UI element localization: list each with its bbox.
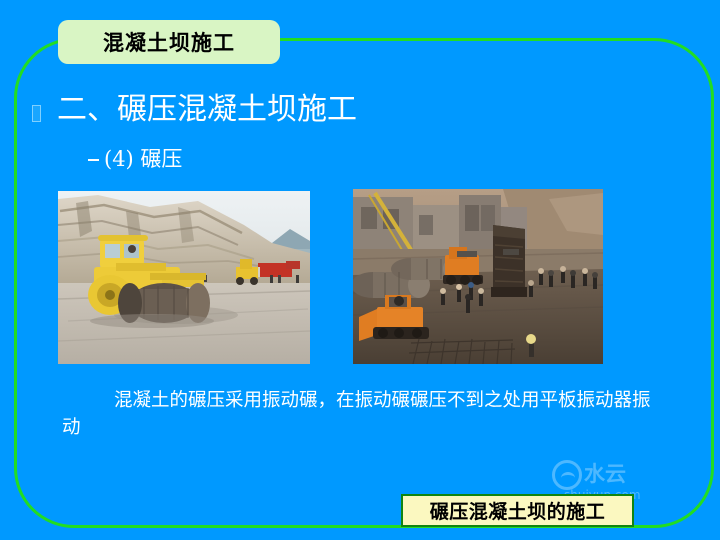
dam-construction-illustration (353, 189, 603, 364)
header-badge-label: 混凝土坝施工 (103, 27, 235, 57)
slide-canvas: 混凝土坝施工 二、碾压混凝土坝施工 (4) 碾压 (0, 0, 720, 540)
slide-title-row: 二、碾压混凝土坝施工 (32, 94, 357, 126)
vibratory-roller-illustration (58, 191, 310, 364)
footer-caption-box: 碾压混凝土坝的施工 (401, 494, 634, 527)
photo-group (0, 0, 720, 540)
footer-caption-label: 碾压混凝土坝的施工 (430, 497, 606, 524)
subtitle-label: (4) 碾压 (104, 148, 182, 171)
slide-subtitle-row: (4) 碾压 (88, 148, 182, 171)
square-bullet-icon (32, 105, 41, 122)
dam-site-photo (353, 189, 603, 364)
page-title: 二、碾压混凝土坝施工 (57, 94, 357, 126)
body-paragraph: 混凝土的碾压采用振动碾，在振动碾碾压不到之处用平板振动器振动 (62, 388, 662, 442)
dash-bullet-icon (88, 159, 99, 161)
vibratory-roller-photo (58, 191, 310, 364)
header-badge: 混凝土坝施工 (58, 20, 280, 64)
